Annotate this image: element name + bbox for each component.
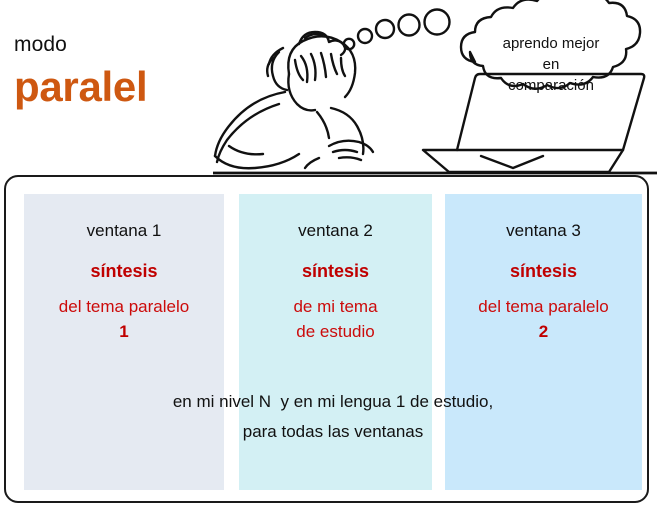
windows-panel: ventana 1 síntesis del tema paralelo 1 v… (4, 175, 649, 503)
mode-label: modo (14, 34, 67, 55)
window-column-2-body: de mi tema de estudio (239, 294, 432, 344)
mode-name-title: paralel (14, 66, 147, 108)
window-column-1-title: ventana 1 (24, 220, 224, 242)
thought-bubble-text: aprendo mejor en comparación (468, 33, 634, 96)
window-column-1: ventana 1 síntesis del tema paralelo 1 (24, 194, 224, 490)
window-column-3-body-line-1: del tema paralelo (445, 294, 642, 319)
window-column-2-body-line-1: de mi tema (239, 294, 432, 319)
thought-bubble-line-1: aprendo mejor (468, 33, 634, 54)
window-column-3-body: del tema paralelo 2 (445, 294, 642, 344)
window-column-1-body-line-2: 1 (24, 319, 224, 344)
window-column-2: ventana 2 síntesis de mi tema de estudio (239, 194, 432, 490)
windows-columns: ventana 1 síntesis del tema paralelo 1 v… (24, 194, 642, 490)
window-column-3-body-line-2: 2 (445, 319, 642, 344)
thought-bubble-line-2: en (468, 54, 634, 75)
window-column-2-title: ventana 2 (239, 220, 432, 242)
window-column-3: ventana 3 síntesis del tema paralelo 2 (445, 194, 642, 490)
window-column-2-body-line-2: de estudio (239, 319, 432, 344)
window-column-3-title: ventana 3 (445, 220, 642, 242)
window-column-1-body-line-1: del tema paralelo (24, 294, 224, 319)
header-area: modo paralel (0, 0, 657, 175)
window-column-3-heading: síntesis (445, 260, 642, 282)
window-column-2-heading: síntesis (239, 260, 432, 282)
thought-bubble-line-3: comparación (468, 75, 634, 96)
window-column-1-body: del tema paralelo 1 (24, 294, 224, 344)
window-column-1-heading: síntesis (24, 260, 224, 282)
